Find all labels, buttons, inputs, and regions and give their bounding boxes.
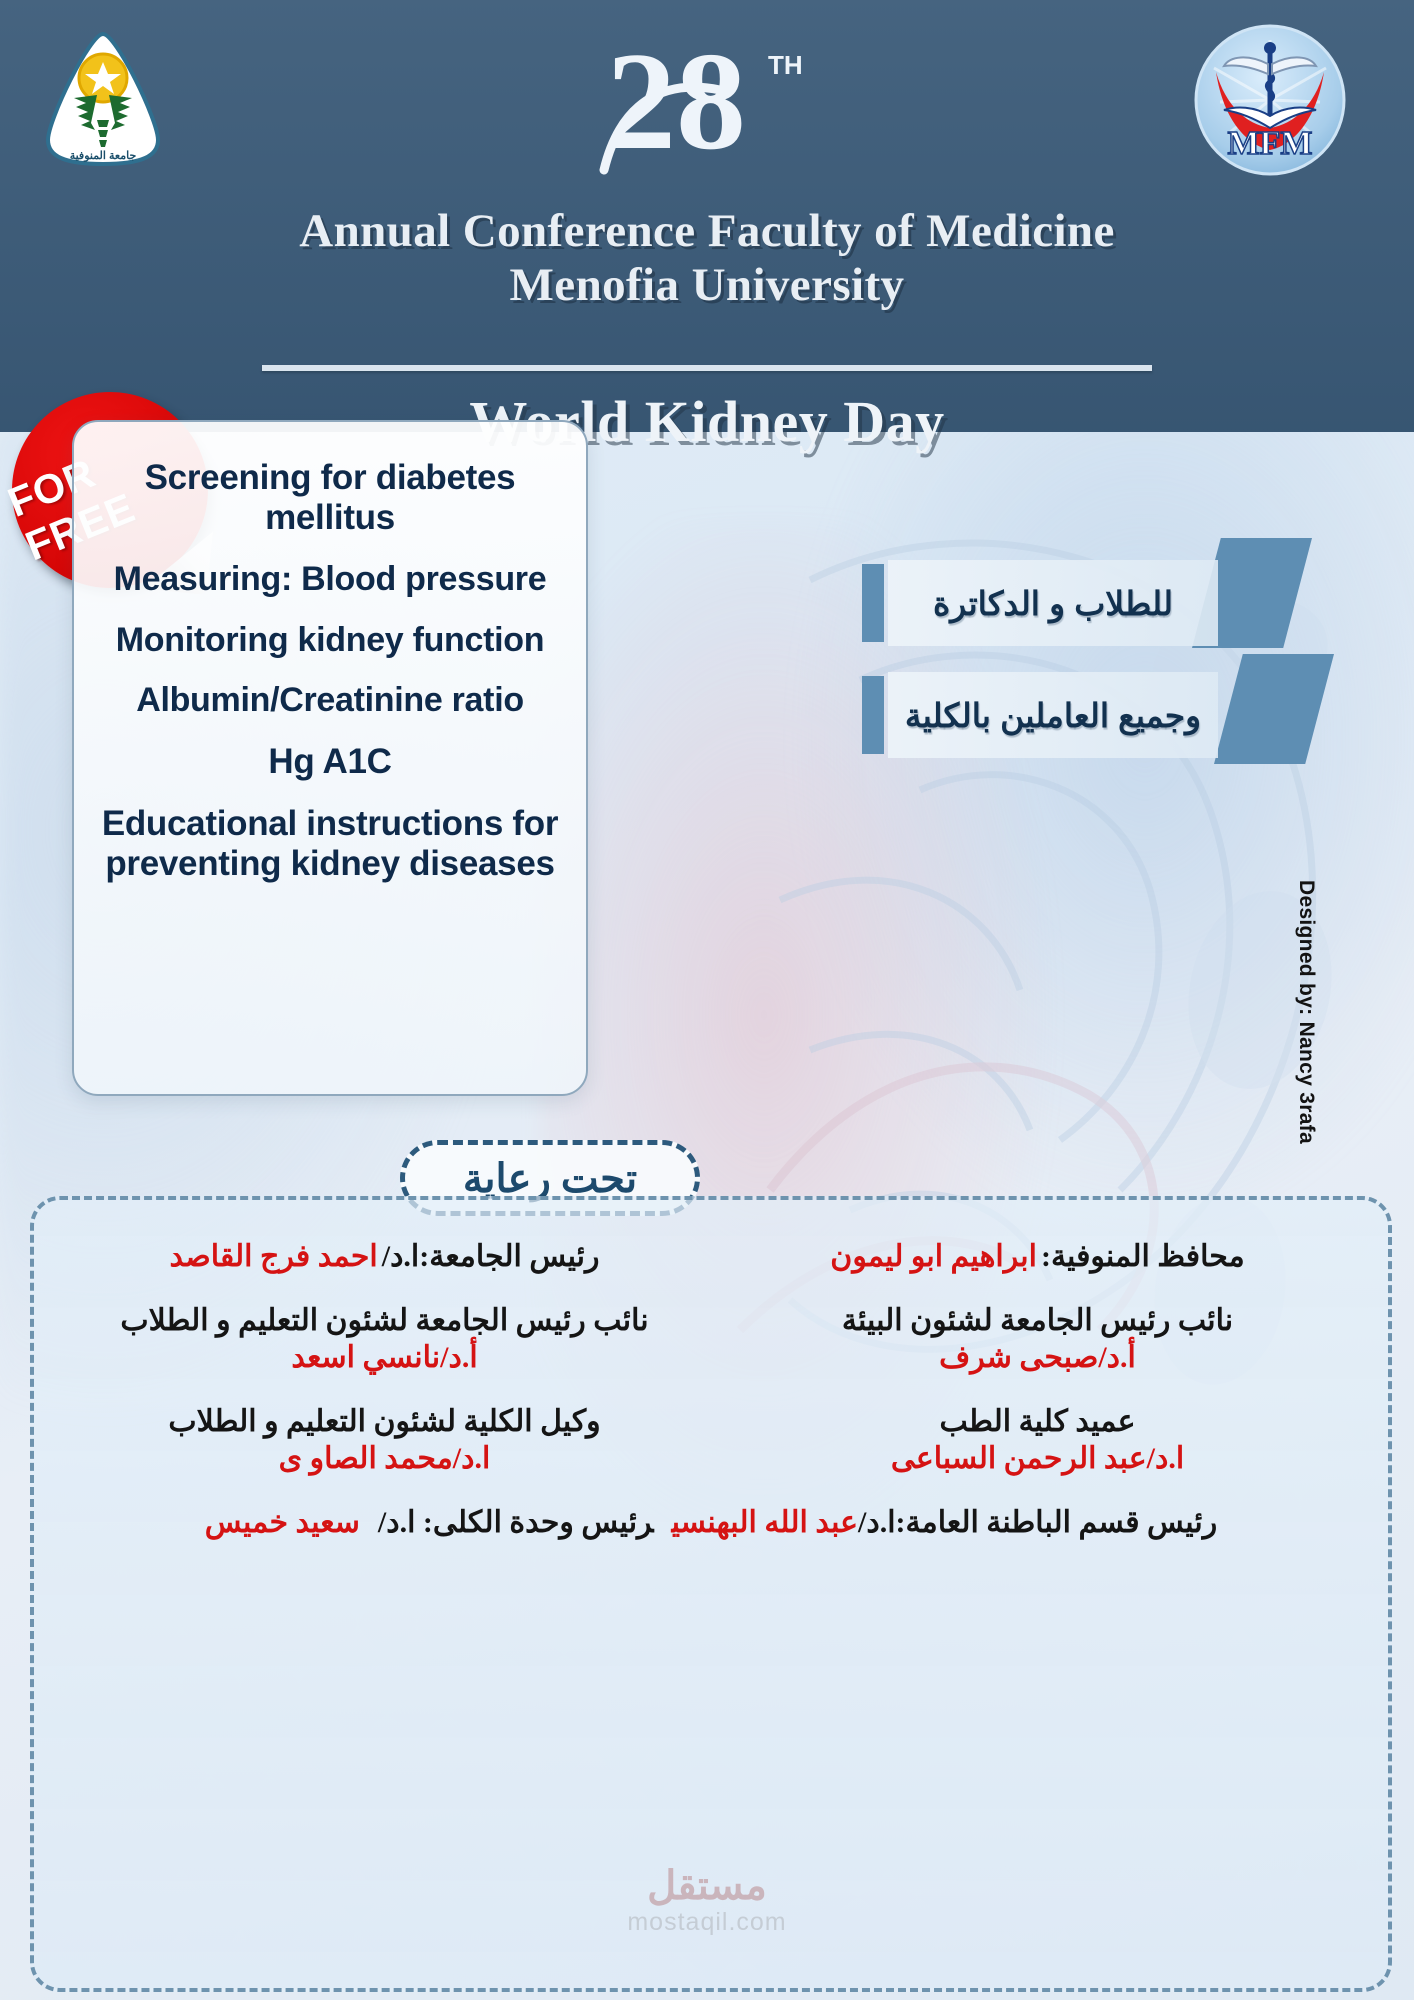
list-item: Educational instructions for preventing … bbox=[87, 804, 573, 884]
list-item: Hg A1C bbox=[87, 742, 573, 782]
sponsor-role: نائب رئيس الجامعة لشئون التعليم و الطلاب bbox=[58, 1302, 711, 1340]
conference-title-line1: Annual Conference Faculty of Medicine bbox=[299, 205, 1114, 257]
services-card: Screening for diabetes mellitus Measurin… bbox=[72, 420, 588, 1096]
edition-number: 28 bbox=[606, 30, 746, 179]
poster-header: جامعة المنوفية bbox=[0, 0, 1414, 432]
edition-number-block: 28 TH bbox=[0, 30, 1414, 185]
sponsor-cell: رئيس قسم الباطنة العامة:ا.د/عبد الله الب… bbox=[58, 1504, 1364, 1542]
header-divider bbox=[262, 365, 1152, 371]
sponsor-name: عبد الله البهنسي bbox=[672, 1506, 858, 1539]
sponsor-role: رئيس وحدة الكلى: ا.د/ bbox=[360, 1506, 672, 1539]
edition-suffix: TH bbox=[768, 50, 803, 80]
ribbon-label: للطلاب و الدكاترة bbox=[933, 584, 1173, 623]
sponsor-name: احمد فرج القاصد bbox=[169, 1240, 377, 1273]
sponsor-cell: محافظ المنوفية: ابراهيم ابو ليمون bbox=[711, 1238, 1364, 1276]
sponsor-row-final: رئيس قسم الباطنة العامة:ا.د/عبد الله الب… bbox=[58, 1504, 1364, 1542]
edition-28th-icon: 28 TH bbox=[592, 30, 822, 180]
list-item: Albumin/Creatinine ratio bbox=[87, 681, 573, 720]
sponsor-role: عميد كلية الطب bbox=[711, 1403, 1364, 1441]
sponsor-row: عميد كلية الطب ا.د/عبد الرحمن السباعى وك… bbox=[58, 1403, 1364, 1478]
sponsor-row: محافظ المنوفية: ابراهيم ابو ليمون رئيس ا… bbox=[58, 1238, 1364, 1276]
sponsor-name: سعيد خميس bbox=[205, 1506, 360, 1539]
sponsor-name: ا.د/محمد الصاو ى bbox=[58, 1440, 711, 1478]
sponsors-grid: محافظ المنوفية: ابراهيم ابو ليمون رئيس ا… bbox=[58, 1238, 1364, 1541]
poster-root: جامعة المنوفية bbox=[0, 0, 1414, 2000]
sponsor-cell: عميد كلية الطب ا.د/عبد الرحمن السباعى bbox=[711, 1403, 1364, 1478]
sponsor-cell: نائب رئيس الجامعة لشئون البيئة أ.د/صبحى … bbox=[711, 1302, 1364, 1377]
sponsor-row: نائب رئيس الجامعة لشئون البيئة أ.د/صبحى … bbox=[58, 1302, 1364, 1377]
audience-ribbon-students: للطلاب و الدكاترة bbox=[862, 560, 1342, 646]
sponsor-role: وكيل الكلية لشئون التعليم و الطلاب bbox=[58, 1403, 711, 1441]
sponsor-name: أ.د/صبحى شرف bbox=[711, 1339, 1364, 1377]
sponsor-name: ا.د/عبد الرحمن السباعى bbox=[711, 1440, 1364, 1478]
ribbon-tab-icon bbox=[862, 676, 884, 754]
ribbon-body: للطلاب و الدكاترة bbox=[888, 560, 1218, 646]
sponsor-cell: وكيل الكلية لشئون التعليم و الطلاب ا.د/م… bbox=[58, 1403, 711, 1478]
sponsor-name: أ.د/نانسي اسعد bbox=[58, 1339, 711, 1377]
sponsor-cell: نائب رئيس الجامعة لشئون التعليم و الطلاب… bbox=[58, 1302, 711, 1377]
sponsors-panel: محافظ المنوفية: ابراهيم ابو ليمون رئيس ا… bbox=[30, 1196, 1392, 1992]
sponsor-inline: رئيس الجامعة:ا.د/ احمد فرج القاصد bbox=[58, 1238, 711, 1276]
services-list: Screening for diabetes mellitus Measurin… bbox=[74, 458, 586, 884]
sponsor-role: محافظ المنوفية: bbox=[1041, 1240, 1245, 1273]
sponsor-inline: محافظ المنوفية: ابراهيم ابو ليمون bbox=[711, 1238, 1364, 1276]
audience-ribbon-staff: وجميع العاملين بالكلية bbox=[862, 672, 1342, 758]
designer-credit: Designed by: Nancy 3rafa bbox=[1294, 880, 1318, 1180]
sponsor-role: رئيس قسم الباطنة العامة:ا.د/ bbox=[858, 1506, 1217, 1539]
list-item: Measuring: Blood pressure bbox=[87, 560, 573, 599]
page-title: Annual Conference Faculty of Medicine Me… bbox=[0, 205, 1414, 312]
list-item: Screening for diabetes mellitus bbox=[87, 458, 573, 538]
sponsor-name: ابراهيم ابو ليمون bbox=[830, 1240, 1037, 1273]
sponsor-role: رئيس الجامعة:ا.د/ bbox=[382, 1240, 600, 1273]
sponsor-role: نائب رئيس الجامعة لشئون البيئة bbox=[711, 1302, 1364, 1340]
conference-title-line2: Menofia University bbox=[0, 259, 1414, 313]
list-item: Monitoring kidney function bbox=[87, 621, 573, 660]
ribbon-body: وجميع العاملين بالكلية bbox=[888, 672, 1218, 758]
ribbon-label: وجميع العاملين بالكلية bbox=[905, 696, 1201, 735]
ribbon-tab-icon bbox=[862, 564, 884, 642]
sponsorship-heading-label: تحت رعاية bbox=[463, 1155, 637, 1202]
sponsor-cell: رئيس الجامعة:ا.د/ احمد فرج القاصد bbox=[58, 1238, 711, 1276]
